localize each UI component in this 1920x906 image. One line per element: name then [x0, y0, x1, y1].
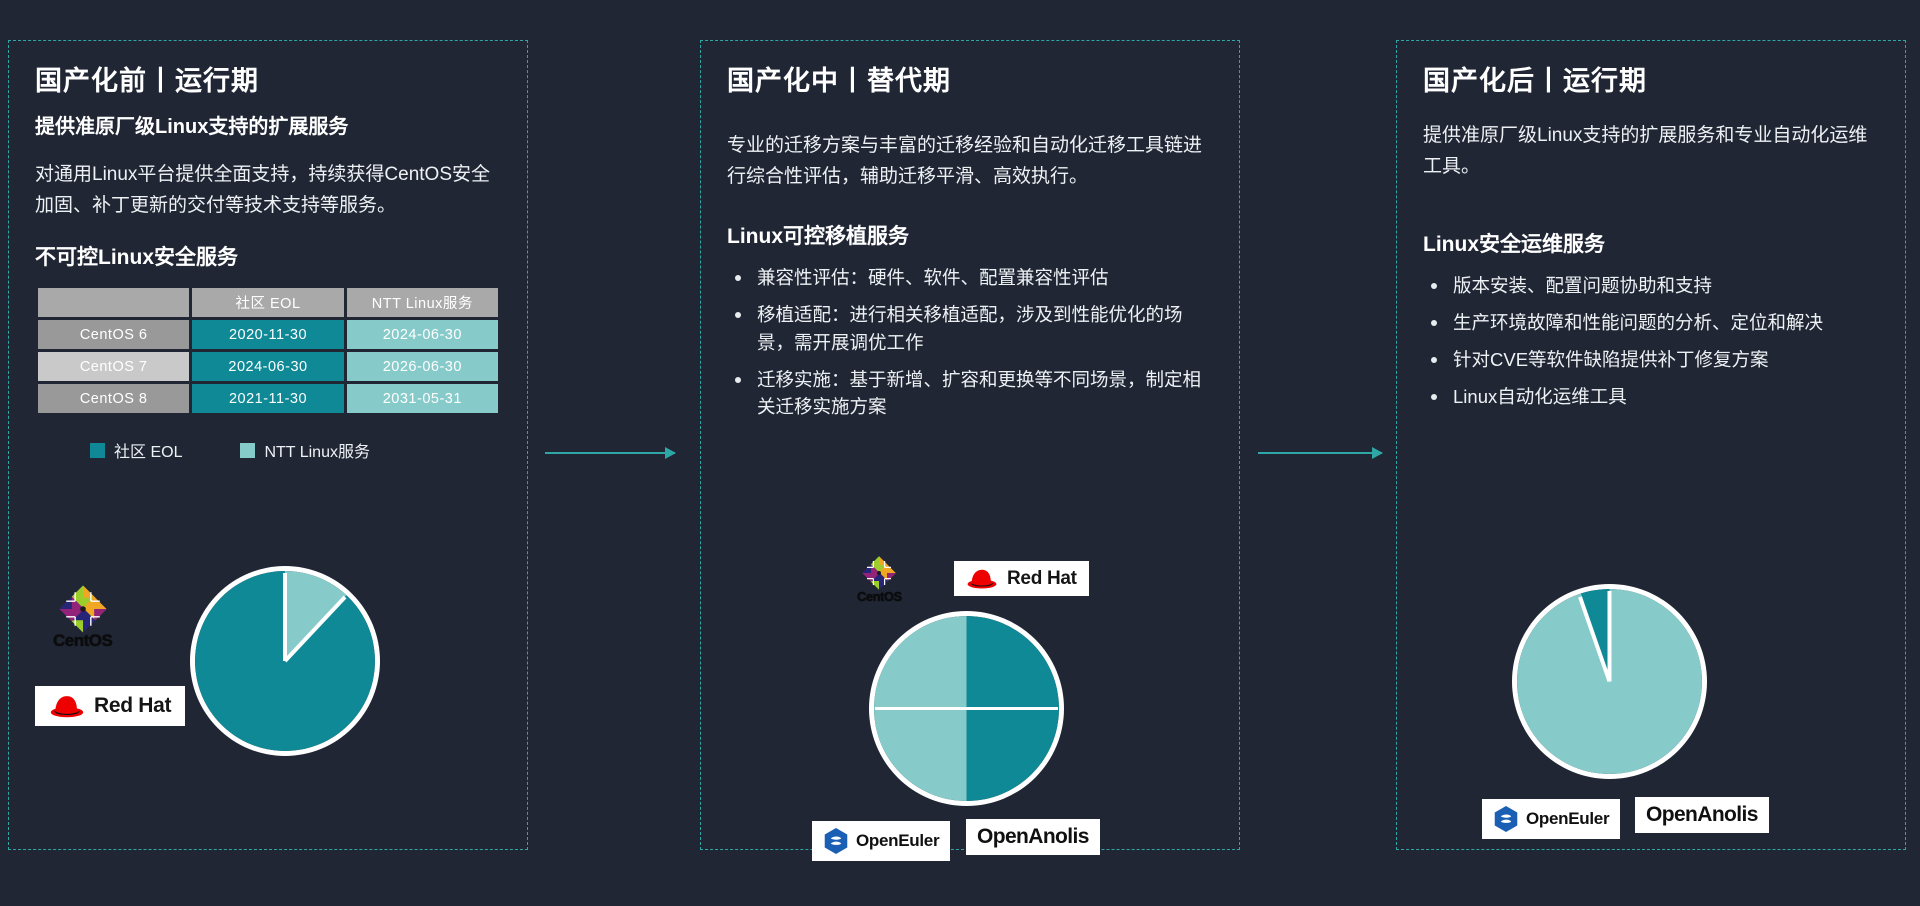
panel-before-localization: 国产化前丨运行期 提供准原厂级Linux支持的扩展服务 对通用Linux平台提供… — [8, 40, 528, 850]
panel1-title: 国产化前丨运行期 — [35, 65, 501, 99]
table-row: CentOS 6 2020-11-30 2024-06-30 — [38, 320, 498, 349]
panel1-body: 对通用Linux平台提供全面支持，持续获得CentOS安全加固、补丁更新的交付等… — [35, 160, 501, 222]
table-row: CentOS 7 2024-06-30 2026-06-30 — [38, 352, 498, 381]
panel1-section-title: 不可控Linux安全服务 — [35, 241, 501, 271]
openanolis-logo: OpenAnolis — [966, 819, 1100, 855]
panel2-body: 专业的迁移方案与丰富的迁移经验和自动化迁移工具链进行综合性评估，辅助迁移平滑、高… — [727, 131, 1213, 193]
table-col-ntt-linux: NTT Linux服务 — [347, 288, 498, 317]
panel3-section-title: Linux安全运维服务 — [1423, 228, 1879, 258]
panel3-bullet-list: 版本安装、配置问题协助和支持 生产环境故障和性能问题的分析、定位和解决 针对CV… — [1423, 272, 1879, 410]
slide-canvas: 国产化前丨运行期 提供准原厂级Linux支持的扩展服务 对通用Linux平台提供… — [0, 0, 1920, 906]
table-cell-ntt: 2026-06-30 — [347, 352, 498, 381]
panel3-title: 国产化后丨运行期 — [1423, 65, 1879, 99]
openeuler-icon — [823, 827, 849, 855]
legend-item-ntt-linux: NTT Linux服务 — [240, 438, 370, 462]
list-item: 迁移实施：基于新增、扩容和更换等不同场景，制定相关迁移实施方案 — [727, 366, 1213, 422]
centos-wordmark: CentOS — [857, 589, 902, 604]
panel-during-localization: 国产化中丨替代期 专业的迁移方案与丰富的迁移经验和自动化迁移工具链进行综合性评估… — [700, 40, 1240, 850]
list-item: 生产环境故障和性能问题的分析、定位和解决 — [1423, 309, 1879, 337]
table-col-community-eol: 社区 EOL — [192, 288, 343, 317]
centos-icon — [859, 553, 899, 593]
list-item: 兼容性评估：硬件、软件、配置兼容性评估 — [727, 264, 1213, 292]
table-cell-eol: 2021-11-30 — [192, 384, 343, 413]
table-cell-os: CentOS 7 — [38, 352, 189, 381]
centos-icon — [55, 581, 111, 637]
panel2-bullet-list: 兼容性评估：硬件、软件、配置兼容性评估 移植适配：进行相关移植适配，涉及到性能优… — [727, 264, 1213, 421]
redhat-wordmark: Red Hat — [94, 694, 171, 718]
legend-swatch-icon — [240, 443, 255, 458]
openeuler-wordmark: OpenEuler — [856, 831, 939, 851]
pie-chart-during — [874, 616, 1059, 801]
openeuler-logo: OpenEuler — [1482, 799, 1620, 839]
table-cell-os: CentOS 6 — [38, 320, 189, 349]
table-cell-ntt: 2031-05-31 — [347, 384, 498, 413]
pie-chart-before — [195, 571, 375, 751]
arrow-panel1-to-panel2 — [545, 452, 675, 454]
legend-swatch-icon — [90, 443, 105, 458]
pie-legend: 社区 EOL NTT Linux服务 — [90, 438, 501, 462]
table-cell-eol: 2020-11-30 — [192, 320, 343, 349]
legend-item-community-eol: 社区 EOL — [90, 438, 182, 462]
centos-logo-group: CentOS — [53, 581, 112, 651]
openeuler-wordmark: OpenEuler — [1526, 809, 1609, 829]
legend-label: NTT Linux服务 — [264, 438, 370, 462]
pie-chart-after — [1517, 589, 1702, 774]
table-cell-os: CentOS 8 — [38, 384, 189, 413]
table-col-blank — [38, 288, 189, 317]
list-item: 版本安装、配置问题协助和支持 — [1423, 272, 1879, 300]
panel2-title: 国产化中丨替代期 — [727, 65, 1213, 99]
list-item: 移植适配：进行相关移植适配，涉及到性能优化的场景，需开展调优工作 — [727, 301, 1213, 357]
list-item: 针对CVE等软件缺陷提供补丁修复方案 — [1423, 346, 1879, 374]
panel3-body: 提供准原厂级Linux支持的扩展服务和专业自动化运维工具。 — [1423, 121, 1879, 183]
redhat-fedora-icon — [966, 567, 998, 590]
openanolis-wordmark: OpenAnolis — [1646, 803, 1758, 827]
centos-logo-group: CentOS — [857, 553, 902, 604]
table-cell-ntt: 2024-06-30 — [347, 320, 498, 349]
redhat-logo: Red Hat — [954, 561, 1089, 596]
table-row: CentOS 8 2021-11-30 2031-05-31 — [38, 384, 498, 413]
panel2-section-title: Linux可控移植服务 — [727, 220, 1213, 250]
openanolis-logo: OpenAnolis — [1635, 797, 1769, 833]
panel1-subtitle: 提供准原厂级Linux支持的扩展服务 — [35, 113, 501, 142]
openeuler-logo: OpenEuler — [812, 821, 950, 861]
arrow-panel2-to-panel3 — [1258, 452, 1382, 454]
openanolis-wordmark: OpenAnolis — [977, 825, 1089, 849]
redhat-wordmark: Red Hat — [1007, 568, 1077, 590]
legend-label: 社区 EOL — [114, 438, 182, 462]
list-item: Linux自动化运维工具 — [1423, 383, 1879, 411]
redhat-logo: Red Hat — [35, 686, 185, 726]
table-cell-eol: 2024-06-30 — [192, 352, 343, 381]
panel-after-localization: 国产化后丨运行期 提供准原厂级Linux支持的扩展服务和专业自动化运维工具。 L… — [1396, 40, 1906, 850]
table-header-row: 社区 EOL NTT Linux服务 — [38, 288, 498, 317]
openeuler-icon — [1493, 805, 1519, 833]
redhat-fedora-icon — [49, 693, 85, 719]
centos-eol-table: 社区 EOL NTT Linux服务 CentOS 6 2020-11-30 2… — [35, 285, 501, 416]
